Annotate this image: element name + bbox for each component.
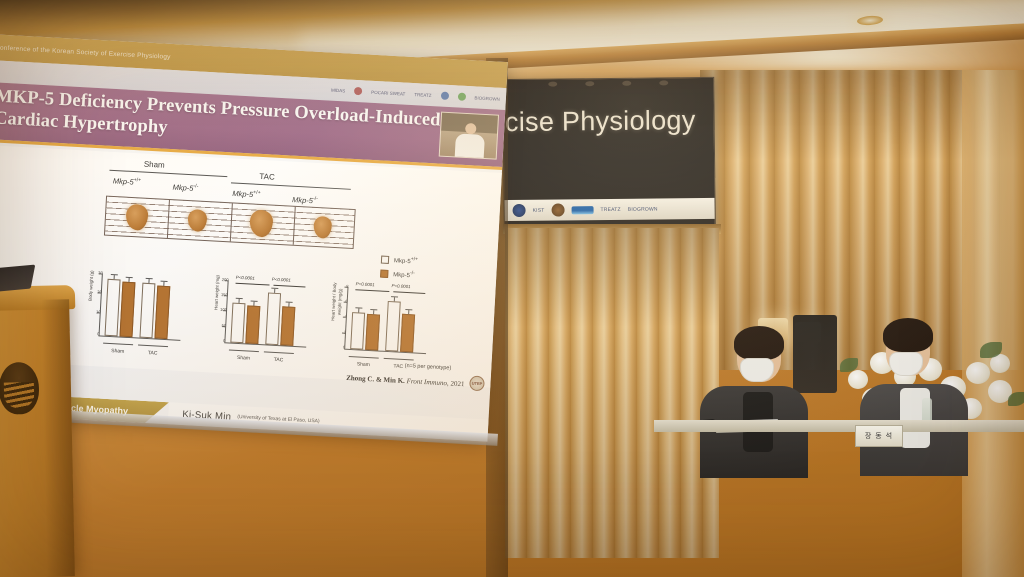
err-hw-1 bbox=[253, 302, 254, 306]
bar-hwbw-tac-wt bbox=[385, 301, 401, 352]
y-tickmark-2-1 bbox=[222, 326, 225, 327]
slide-logo-0: MIDAS bbox=[331, 87, 346, 93]
conference-room-scene: rcise Physiology KIST TREATZ BIOGROWN on… bbox=[0, 0, 1024, 577]
y-tickmark-3-2 bbox=[343, 317, 346, 318]
err-hwbw-2 bbox=[394, 297, 395, 301]
errcap-hw-0 bbox=[236, 298, 243, 299]
x-group-label-3-sham: Sham bbox=[348, 361, 378, 369]
x-group-label-1-sham: Sham bbox=[103, 348, 133, 356]
podium-laptop-icon bbox=[0, 265, 35, 293]
x-group-label-2-tac: TAC bbox=[263, 356, 293, 364]
errcap-bw-3 bbox=[161, 281, 168, 282]
err-bw-0 bbox=[114, 275, 115, 279]
err-hw-0 bbox=[238, 299, 239, 303]
sponsor-logo-pocari bbox=[571, 206, 593, 214]
grid-divider-2 bbox=[230, 203, 233, 241]
banner-title: rcise Physiology bbox=[502, 105, 695, 138]
y-tickmark-2-2 bbox=[223, 310, 226, 311]
errcap-hwbw-0 bbox=[355, 307, 362, 308]
err-bw-3 bbox=[163, 282, 164, 286]
sponsor-label-2: TREATZ bbox=[600, 206, 620, 212]
bar-bw-tac-ko bbox=[154, 285, 170, 339]
banner-sponsor-strip: KIST TREATZ BIOGROWN bbox=[504, 198, 715, 221]
genotype-label-3: Mkp-5 bbox=[292, 195, 313, 205]
y-tickmark-1-2 bbox=[98, 292, 101, 293]
panel-table-skirt bbox=[654, 425, 1024, 577]
err-bw-1 bbox=[128, 278, 129, 282]
panelist-right-hair bbox=[883, 318, 933, 352]
y-axis-1 bbox=[99, 273, 103, 335]
banner-grommets bbox=[503, 80, 713, 92]
y-tickmark-2-3 bbox=[224, 295, 227, 296]
bar-bw-tac-wt bbox=[139, 283, 155, 339]
bar-hw-sham-ko bbox=[245, 305, 260, 344]
errcap-bw-2 bbox=[146, 278, 153, 279]
x-group-rule-1-tac bbox=[138, 345, 168, 348]
errcap-hwbw-2 bbox=[391, 296, 398, 297]
heart-specimen-sham-wt bbox=[125, 204, 148, 231]
bar-hwbw-sham-ko bbox=[365, 314, 380, 351]
legend-swatch-wt bbox=[381, 255, 389, 263]
slide-logo-mark-4 bbox=[457, 92, 465, 100]
errcap-bw-0 bbox=[111, 274, 118, 275]
grid-divider-1 bbox=[167, 200, 170, 238]
y-tickmark-1-3 bbox=[99, 273, 102, 274]
y-tick-3-0: 0 bbox=[335, 344, 345, 350]
err-hwbw-0 bbox=[358, 308, 359, 312]
err-hwbw-3 bbox=[408, 310, 409, 314]
errcap-hwbw-1 bbox=[370, 309, 377, 310]
genotype-sup-3: -/- bbox=[313, 196, 318, 202]
slide-surface: onference of the Korean Society of Exerc… bbox=[0, 34, 508, 441]
y-tickmark-3-4 bbox=[344, 287, 347, 288]
webcam-presenter-body bbox=[455, 133, 485, 159]
x-group-rule-2-tac bbox=[264, 351, 294, 354]
chart-heart-weight: Heart weight (mg) 200 150 100 50 0 bbox=[201, 275, 314, 369]
y-axis-label-1: Body weight (g) bbox=[87, 260, 95, 312]
bar-hw-tac-ko bbox=[280, 306, 295, 346]
panelist-right-face-mask bbox=[889, 352, 923, 376]
chart-legend: Mkp-5+/+ Mkp-5-/- bbox=[380, 255, 445, 286]
bar-hw-sham-wt bbox=[230, 303, 245, 344]
group-label-tac: TAC bbox=[259, 172, 275, 182]
errcap-bw-1 bbox=[126, 277, 133, 278]
errcap-hw-2 bbox=[271, 288, 278, 289]
sig-label-3-b: P<0.0001 bbox=[392, 283, 411, 289]
panelist-left-hair bbox=[734, 326, 784, 360]
heart-specimen-tac-ko bbox=[313, 216, 332, 239]
slide-header-text: onference of the Korean Society of Exerc… bbox=[0, 44, 171, 60]
slide-logo-4: BIOGROWN bbox=[474, 95, 500, 101]
slide-content: Sham TAC Mkp-5+/+ Mkp-5-/- Mkp-5+/+ Mkp-… bbox=[0, 145, 502, 387]
bar-hwbw-tac-ko bbox=[400, 314, 415, 353]
errcap-hw-1 bbox=[251, 301, 258, 302]
genotype-sup-2: +/+ bbox=[253, 190, 261, 196]
slide-logo-2: TREATZ bbox=[414, 92, 431, 98]
errcap-hw-3 bbox=[286, 301, 293, 302]
sponsor-logo-kist bbox=[513, 204, 526, 217]
x-group-rule-3-sham bbox=[349, 356, 379, 359]
citation-author: Zhong C. & Min K. bbox=[346, 374, 405, 385]
sig-label-3-a: P<0.0001 bbox=[356, 281, 375, 287]
wall-banner: rcise Physiology KIST TREATZ BIOGROWN bbox=[502, 77, 716, 231]
sig-rule-3-b bbox=[393, 291, 425, 294]
sig-rule-2-a bbox=[236, 283, 270, 286]
genotype-sup-0: +/+ bbox=[134, 177, 142, 183]
genotype-label-2: Mkp-5 bbox=[232, 189, 253, 199]
loudspeaker bbox=[793, 315, 837, 393]
heart-specimen-tac-wt bbox=[249, 209, 273, 237]
errcap-hwbw-3 bbox=[405, 309, 412, 310]
grid-divider-3 bbox=[293, 207, 296, 245]
err-hw-2 bbox=[274, 289, 275, 293]
err-hwbw-1 bbox=[373, 310, 374, 314]
err-hw-3 bbox=[288, 303, 289, 307]
podium-emblem-icon bbox=[0, 362, 39, 415]
sig-rule-3-a bbox=[355, 289, 389, 292]
slide-logo-mark-3 bbox=[440, 92, 448, 100]
citation-year: 2021 bbox=[450, 379, 464, 388]
legend-swatch-ko bbox=[380, 269, 388, 277]
err-bw-2 bbox=[148, 279, 149, 283]
x-group-rule-2-sham bbox=[229, 349, 259, 352]
sponsor-logo-mark bbox=[551, 203, 564, 216]
y-tickmark-3-3 bbox=[344, 302, 347, 303]
legend-label-ko: Mkp-5 bbox=[393, 272, 410, 279]
webcam-presenter-head bbox=[465, 123, 477, 135]
y-tick-1-0: 0 bbox=[89, 331, 99, 337]
sponsor-label-3: BIOGROWN bbox=[628, 206, 658, 212]
sig-label-2-a: P<0.0001 bbox=[236, 275, 255, 281]
legend-label-wt: Mkp-5 bbox=[394, 258, 411, 265]
x-group-rule-1-sham bbox=[103, 343, 133, 346]
x-group-label-2-sham: Sham bbox=[228, 354, 258, 362]
group-label-sham: Sham bbox=[144, 160, 165, 170]
citation-journal: Front Immuno bbox=[406, 377, 447, 387]
y-tickmark-2-4 bbox=[225, 280, 228, 281]
sponsor-label-0: KIST bbox=[533, 207, 545, 213]
webcam-overlay bbox=[439, 112, 499, 160]
x-group-rule-3-tac bbox=[384, 358, 414, 361]
y-tickmark-1-1 bbox=[97, 312, 100, 313]
podium-shading bbox=[41, 299, 75, 577]
podium bbox=[0, 299, 75, 577]
legend-sup-ko: -/- bbox=[410, 270, 415, 276]
slide-logo-1: POCARI SWEAT bbox=[371, 89, 405, 96]
genotype-sup-1: -/- bbox=[193, 183, 198, 189]
legend-item-wt: Mkp-5+/+ bbox=[381, 255, 445, 267]
legend-item-ko: Mkp-5-/- bbox=[380, 269, 444, 281]
genotype-label-0: Mkp-5 bbox=[113, 176, 134, 186]
genotype-label-1: Mkp-5 bbox=[172, 183, 193, 193]
y-tickmark-3-1 bbox=[342, 333, 345, 334]
bar-bw-sham-ko bbox=[119, 282, 135, 338]
bar-hw-tac-wt bbox=[265, 292, 281, 345]
legend-sup-wt: +/+ bbox=[411, 256, 419, 262]
chart-heart-to-body-weight: Heart weight / Body weight (mg/g) 8 6 4 … bbox=[321, 282, 434, 376]
panelist-left-face-mask bbox=[740, 358, 774, 382]
slide-logo-mark-1 bbox=[354, 87, 362, 95]
heart-specimen-sham-ko bbox=[187, 209, 207, 232]
bar-bw-sham-wt bbox=[105, 279, 121, 337]
specimen-grid bbox=[104, 196, 356, 249]
y-tick-2-0: 0 bbox=[215, 338, 225, 344]
sig-label-2-b: P<0.0001 bbox=[272, 277, 291, 283]
chart-body-weight: Body weight (g) 30 20 10 0 bbox=[75, 268, 188, 362]
projection-screen: onference of the Korean Society of Exerc… bbox=[0, 34, 508, 441]
utep-logo-icon: UTEP bbox=[469, 376, 485, 392]
x-group-label-1-tac: TAC bbox=[137, 350, 167, 358]
bar-hwbw-sham-wt bbox=[350, 312, 365, 350]
